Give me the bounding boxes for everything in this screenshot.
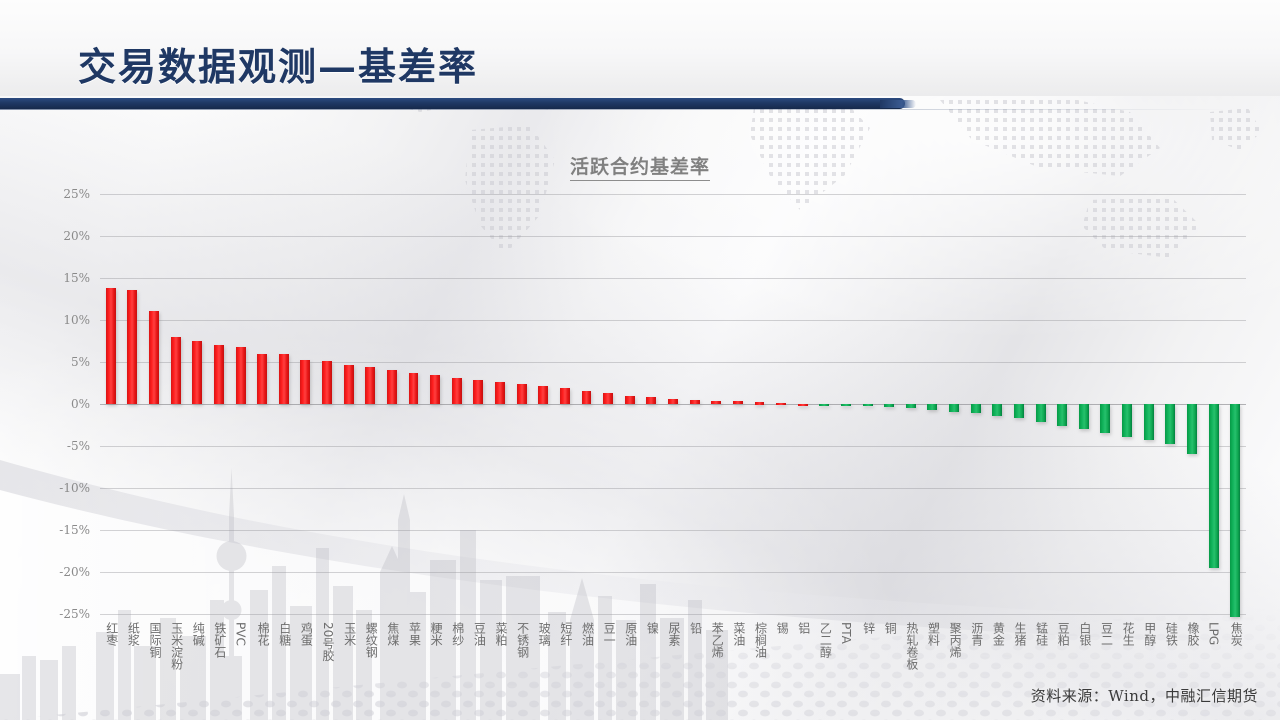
x-axis-tick-label: 乙二醇 <box>817 622 834 658</box>
x-axis-tick-label: 聚丙烯 <box>947 622 964 658</box>
x-axis-tick-label: 锌 <box>861 622 878 634</box>
y-axis-tick-label: -5% <box>67 439 90 453</box>
x-axis-tick-label: 原油 <box>623 622 640 646</box>
bar-铜 <box>884 404 894 407</box>
bar-镍 <box>646 397 656 404</box>
gridline <box>100 362 1246 363</box>
x-axis-tick-label: 玉米 <box>342 622 359 646</box>
bar-豆二 <box>1100 404 1110 433</box>
bar-红枣 <box>106 288 116 404</box>
gridline <box>100 572 1246 573</box>
x-axis-tick-label: 棉花 <box>255 622 272 646</box>
bar-铁矿石 <box>214 345 224 404</box>
gridline <box>100 446 1246 447</box>
x-axis-tick-label: 黄金 <box>990 622 1007 646</box>
bar-甲醇 <box>1144 404 1154 440</box>
x-axis-tick-label: 沥青 <box>969 622 986 646</box>
x-axis-tick-label: 燃油 <box>580 622 597 646</box>
x-axis-tick-label: 铝 <box>796 622 813 634</box>
bar-PVC <box>236 347 246 404</box>
bar-焦煤 <box>387 370 397 404</box>
x-axis-tick-label: 螺纹钢 <box>363 622 380 658</box>
x-axis-tick-label: 镍 <box>644 622 661 634</box>
bar-鸡蛋 <box>300 360 310 404</box>
bar-橡胶 <box>1187 404 1197 454</box>
x-axis-tick-label: PVC <box>234 622 248 646</box>
bar-PTA <box>841 404 851 406</box>
bar-硅铁 <box>1165 404 1175 444</box>
y-axis-tick-label: -25% <box>59 607 90 621</box>
bar-玉米 <box>344 365 354 404</box>
x-axis-tick-label: 热轧卷板 <box>904 622 921 670</box>
bar-螺纹钢 <box>365 367 375 404</box>
bar-锌 <box>863 404 873 406</box>
y-axis-tick-label: -15% <box>59 523 90 537</box>
x-axis-tick-label: 棕榈油 <box>752 622 769 658</box>
bar-燃油 <box>582 391 592 404</box>
bar-20号胶 <box>322 361 332 404</box>
x-axis-tick-label: 塑料 <box>925 622 942 646</box>
y-axis-tick-label: -20% <box>59 565 90 579</box>
bar-纯碱 <box>192 341 202 404</box>
bar-粳米 <box>430 375 440 404</box>
bar-铅 <box>690 400 700 404</box>
bar-棕榈油 <box>755 402 765 404</box>
x-axis-tick-label: 橡胶 <box>1185 622 1202 646</box>
x-axis-tick-label: 苹果 <box>407 622 424 646</box>
x-axis-tick-label: 玻璃 <box>536 622 553 646</box>
x-axis-tick-label: 玉米淀粉 <box>169 622 186 670</box>
bar-生猪 <box>1014 404 1024 418</box>
bar-玻璃 <box>538 386 548 404</box>
bar-LPG <box>1209 404 1219 568</box>
x-axis-tick-label: 生猪 <box>1012 622 1029 646</box>
x-axis-tick-label: 豆一 <box>601 622 618 646</box>
bar-黄金 <box>992 404 1002 416</box>
x-axis-tick-label: LPG <box>1207 622 1221 645</box>
chart-title-text: 活跃合约基差率 <box>570 156 710 181</box>
x-axis-tick-label: 苯乙烯 <box>709 622 726 658</box>
header-divider-thin-line <box>0 109 1280 110</box>
gridline <box>100 236 1246 237</box>
x-axis-tick-label: 硅铁 <box>1163 622 1180 646</box>
bar-沥青 <box>971 404 981 413</box>
bar-热轧卷板 <box>906 404 916 408</box>
x-axis-tick-label: 红枣 <box>104 622 121 646</box>
bar-国际铜 <box>149 311 159 404</box>
y-axis-tick-label: 10% <box>63 313 90 327</box>
header-divider <box>0 96 1280 118</box>
x-axis-tick-label: 豆粕 <box>1055 622 1072 646</box>
y-axis-tick-label: 25% <box>63 187 90 201</box>
bar-聚丙烯 <box>949 404 959 412</box>
x-axis-tick-label: 粳米 <box>428 622 445 646</box>
gridline <box>100 194 1246 195</box>
y-axis-tick-label: -10% <box>59 481 90 495</box>
y-axis-tick-label: 5% <box>71 355 90 369</box>
x-axis-tick-label: 白糖 <box>277 622 294 646</box>
bar-苯乙烯 <box>711 401 721 404</box>
bar-菜油 <box>733 401 743 404</box>
bar-豆一 <box>603 393 613 404</box>
x-axis-tick-label: 国际铜 <box>147 622 164 658</box>
x-axis-tick-label: 菜油 <box>731 622 748 646</box>
x-axis-tick-label: 不锈钢 <box>515 622 532 658</box>
bar-花生 <box>1122 404 1132 437</box>
x-axis-tick-label: 花生 <box>1120 622 1137 646</box>
x-axis-tick-label: 焦煤 <box>385 622 402 646</box>
x-axis-tick-label: 纯碱 <box>190 622 207 646</box>
x-axis-tick-label: 铅 <box>688 622 705 634</box>
x-axis-tick-label: 焦炭 <box>1228 622 1245 646</box>
y-axis-tick-label: 20% <box>63 229 90 243</box>
x-axis-tick-label: 豆油 <box>471 622 488 646</box>
bar-纸浆 <box>127 290 137 404</box>
x-axis-tick-label: 菜粕 <box>493 622 510 646</box>
bar-白银 <box>1079 404 1089 429</box>
x-axis-tick-label: 纸浆 <box>125 622 142 646</box>
gridline <box>100 614 1246 615</box>
zero-axis-line <box>100 404 1246 405</box>
bar-尿素 <box>668 399 678 404</box>
x-axis-tick-label: 鸡蛋 <box>298 622 315 646</box>
bar-棉纱 <box>452 378 462 404</box>
x-axis-tick-label: 铁矿石 <box>212 622 229 658</box>
slide-root: 交易数据观测—基差率 活跃合约基差率 25%20%15%10%5%0%-5%-1… <box>0 0 1280 720</box>
gridline <box>100 278 1246 279</box>
x-axis-tick-label: 尿素 <box>666 622 683 646</box>
gridline <box>100 530 1246 531</box>
chart-plot-area: 25%20%15%10%5%0%-5%-10%-15%-20%-25%红枣纸浆国… <box>100 194 1246 614</box>
x-axis-tick-label: PTA <box>839 622 853 644</box>
y-axis-tick-label: 15% <box>63 271 90 285</box>
bar-短纤 <box>560 388 570 404</box>
basis-rate-bar-chart: 活跃合约基差率 25%20%15%10%5%0%-5%-10%-15%-20%-… <box>0 130 1280 630</box>
x-axis-tick-label: 锰硅 <box>1034 622 1051 646</box>
x-axis-tick-label: 豆二 <box>1098 622 1115 646</box>
bar-玉米淀粉 <box>171 337 181 404</box>
bar-棉花 <box>257 354 267 404</box>
bar-塑料 <box>927 404 937 410</box>
chart-title: 活跃合约基差率 <box>0 152 1280 179</box>
header-divider-bar <box>0 98 905 109</box>
x-axis-tick-label: 20号胶 <box>320 622 337 661</box>
bar-焦炭 <box>1230 404 1240 617</box>
bar-豆粕 <box>1057 404 1067 426</box>
bar-铝 <box>798 404 808 406</box>
bar-菜粕 <box>495 382 505 404</box>
gridline <box>100 320 1246 321</box>
x-axis-tick-label: 甲醇 <box>1142 622 1159 646</box>
bar-不锈钢 <box>517 384 527 404</box>
x-axis-tick-label: 白银 <box>1077 622 1094 646</box>
bar-豆油 <box>473 380 483 404</box>
bar-原油 <box>625 396 635 404</box>
header-divider-taper <box>880 100 916 108</box>
y-axis-tick-label: 0% <box>71 397 90 411</box>
x-axis-tick-label: 棉纱 <box>450 622 467 646</box>
x-axis-tick-label: 铜 <box>882 622 899 634</box>
gridline <box>100 488 1246 489</box>
bar-白糖 <box>279 354 289 404</box>
bar-苹果 <box>409 373 419 404</box>
source-note: 资料来源：Wind，中融汇信期货 <box>1031 685 1258 706</box>
x-axis-tick-label: 短纤 <box>558 622 575 646</box>
bar-锡 <box>776 403 786 405</box>
bar-锰硅 <box>1036 404 1046 422</box>
page-title: 交易数据观测—基差率 <box>78 36 478 91</box>
x-axis-tick-label: 锡 <box>774 622 791 634</box>
bar-乙二醇 <box>819 404 829 406</box>
